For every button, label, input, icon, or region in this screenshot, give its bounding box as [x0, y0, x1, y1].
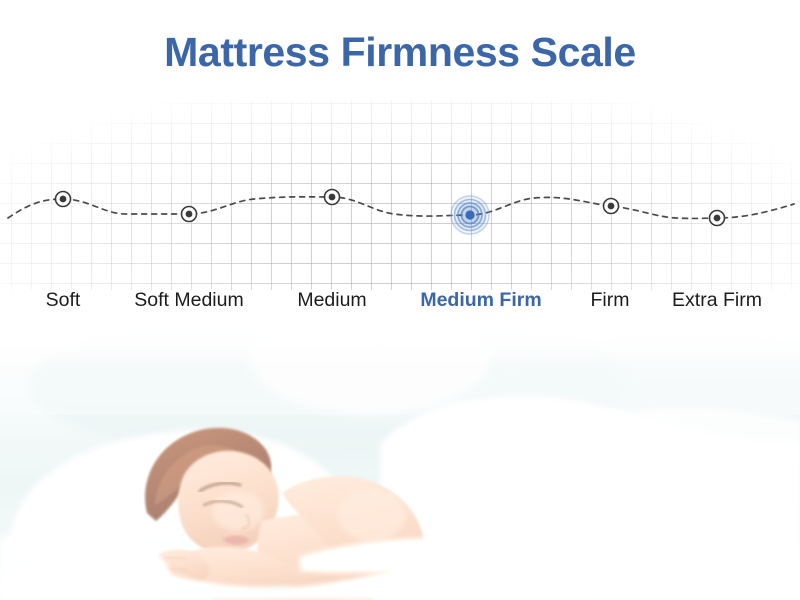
page-title: Mattress Firmness Scale: [0, 26, 800, 78]
marker-medium[interactable]: [325, 190, 340, 205]
scale-label-soft[interactable]: Soft: [46, 288, 81, 312]
scale-label-medium[interactable]: Medium: [297, 288, 366, 312]
scale-label-extra-firm[interactable]: Extra Firm: [672, 288, 762, 312]
marker-extra-firm[interactable]: [710, 211, 725, 226]
firmness-wave-chart: [0, 100, 800, 290]
scale-label-medium-firm[interactable]: Medium Firm: [420, 288, 541, 312]
photo-illustration: [0, 325, 800, 600]
marker-firm[interactable]: [604, 199, 619, 214]
sleeping-woman-photo: [0, 325, 800, 600]
scale-label-soft-medium[interactable]: Soft Medium: [134, 288, 243, 312]
firmness-trend-line: [8, 197, 794, 219]
firmness-label-row: Soft Soft Medium Medium Medium Firm Firm…: [0, 288, 800, 318]
firmness-scale-chart: Soft Soft Medium Medium Medium Firm Firm…: [0, 100, 800, 325]
scale-label-firm[interactable]: Firm: [591, 288, 630, 312]
firmness-scale-page: Mattress Firmness Scale: [0, 0, 800, 600]
marker-soft[interactable]: [56, 192, 71, 207]
marker-soft-medium[interactable]: [182, 207, 197, 222]
marker-medium-firm-active[interactable]: [449, 194, 491, 236]
